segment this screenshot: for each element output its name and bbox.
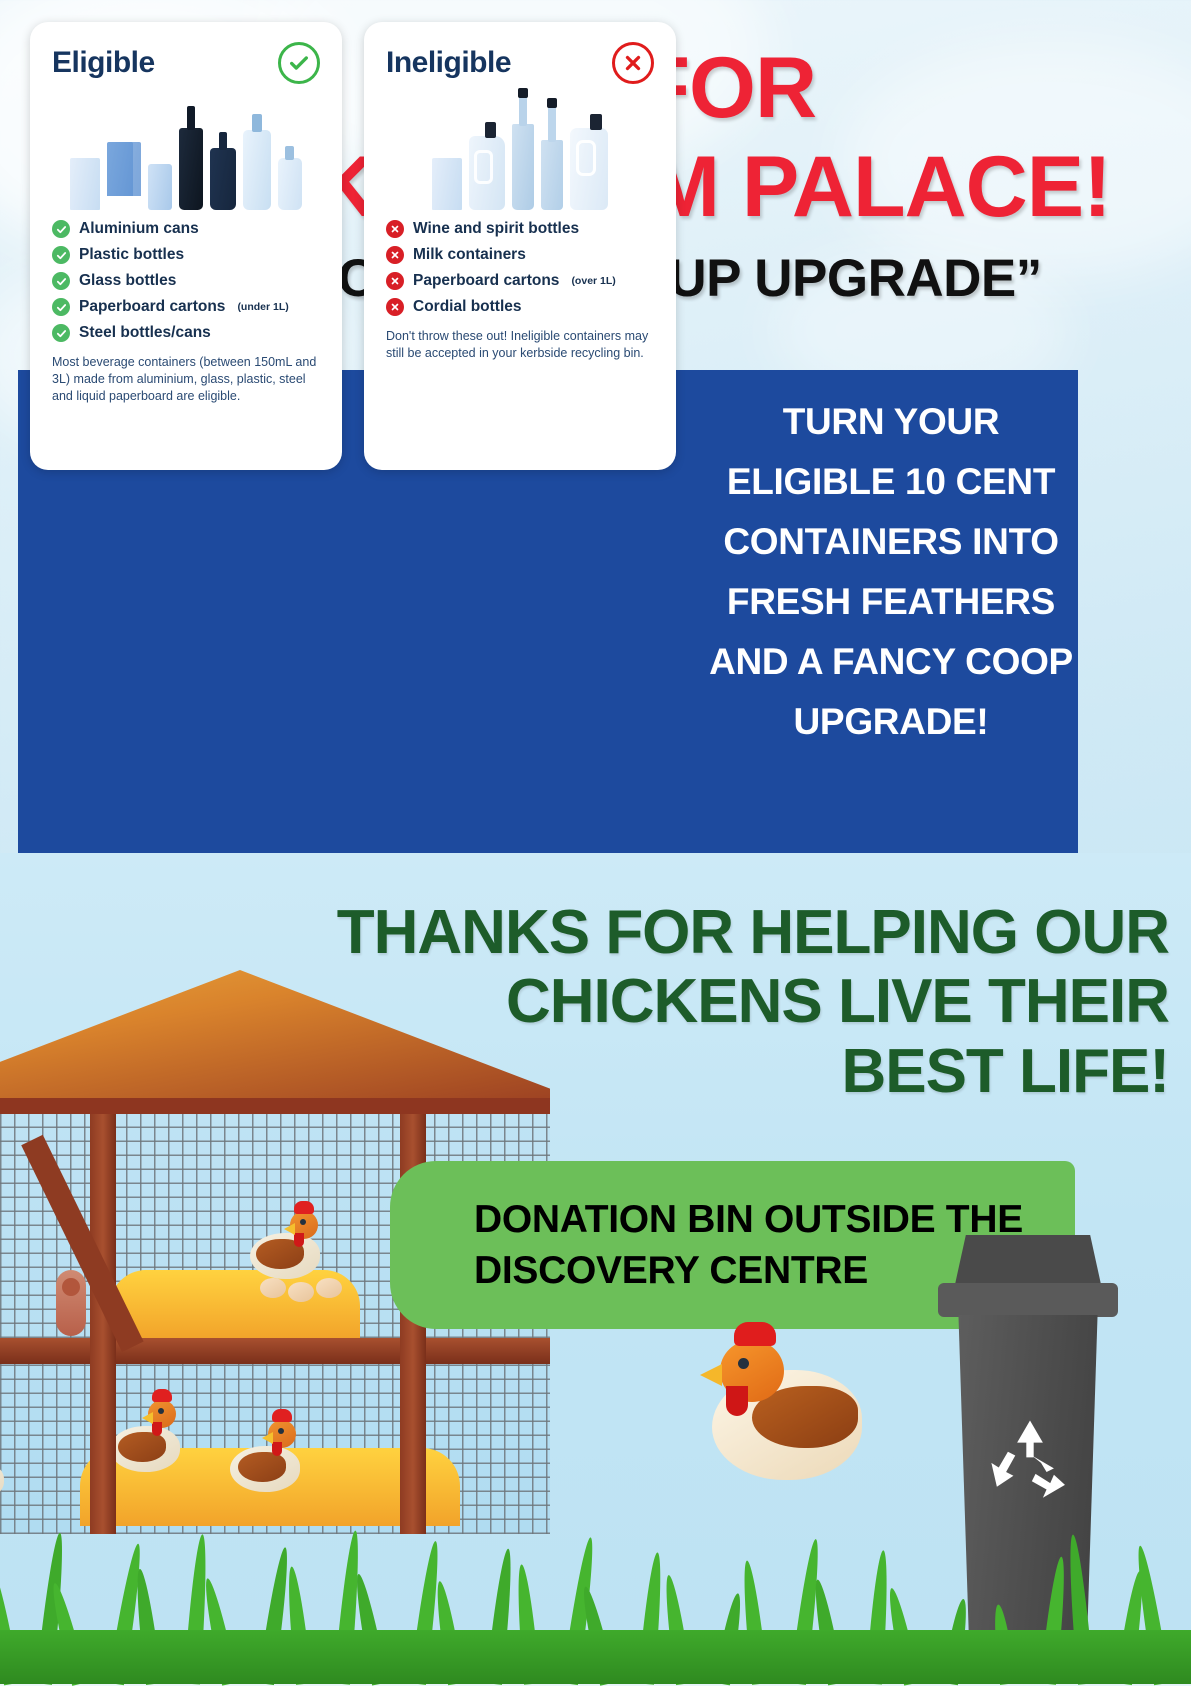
list-item-label: Wine and spirit bottles bbox=[413, 220, 579, 238]
glass-bottle-icon bbox=[210, 148, 236, 210]
check-icon bbox=[52, 246, 70, 264]
ineligible-card-title: Ineligible bbox=[386, 46, 511, 80]
call-to-action-message: TURN YOUR ELIGIBLE 10 CENT CONTAINERS IN… bbox=[705, 392, 1077, 752]
milk-container-icon bbox=[570, 128, 608, 210]
list-item-label: Aluminium cans bbox=[79, 220, 199, 238]
large-carton-icon bbox=[432, 158, 462, 210]
cross-circle-icon bbox=[612, 42, 654, 84]
list-item-label: Cordial bottles bbox=[413, 298, 522, 316]
wine-bottle-icon bbox=[512, 124, 534, 210]
grass-base bbox=[0, 1630, 1191, 1684]
check-icon bbox=[52, 324, 70, 342]
egg-icon bbox=[316, 1278, 342, 1298]
list-item: Paperboard cartons (under 1L) bbox=[52, 298, 320, 316]
eligible-card: Eligible Aluminium cans Plastic bottles bbox=[30, 22, 342, 470]
bin-lid bbox=[938, 1283, 1118, 1317]
recycle-arrows-icon bbox=[984, 1415, 1076, 1507]
grass-foreground bbox=[0, 1504, 1191, 1684]
egg-icon bbox=[288, 1282, 314, 1302]
list-item-note: (over 1L) bbox=[571, 275, 615, 287]
cross-icon bbox=[386, 220, 404, 238]
poster-root: CANS FOR CLUCKINGHAM PALACE! “BHCS CHICK… bbox=[0, 0, 1191, 1684]
coop-latch bbox=[56, 1270, 86, 1336]
coop-beam bbox=[0, 1338, 550, 1364]
list-item-label: Plastic bottles bbox=[79, 246, 184, 264]
eligible-card-footnote: Most beverage containers (between 150mL … bbox=[52, 354, 320, 405]
ineligible-card-footnote: Don't throw these out! Ineligible contai… bbox=[386, 328, 654, 362]
list-item-note: (under 1L) bbox=[237, 301, 288, 313]
list-item-label: Glass bottles bbox=[79, 272, 176, 290]
carton-icon bbox=[70, 158, 100, 210]
ineligible-card-header: Ineligible bbox=[386, 42, 654, 84]
list-item: Plastic bottles bbox=[52, 246, 320, 264]
list-item: Cordial bottles bbox=[386, 298, 654, 316]
thanks-headline: THANKS FOR HELPING OUR CHICKENS LIVE THE… bbox=[329, 898, 1169, 1106]
list-item: Steel bottles/cans bbox=[52, 324, 320, 342]
milk-jug-icon bbox=[469, 136, 505, 210]
ineligible-card: Ineligible Wine and spirit bottles Milk … bbox=[364, 22, 676, 470]
plastic-bottle-icon bbox=[243, 130, 271, 210]
eligible-containers-illustration bbox=[52, 98, 320, 210]
list-item-label: Milk containers bbox=[413, 246, 526, 264]
check-icon bbox=[52, 220, 70, 238]
bin-lid-top bbox=[954, 1235, 1102, 1289]
egg-icon bbox=[260, 1278, 286, 1298]
list-item: Aluminium cans bbox=[52, 220, 320, 238]
milk-carton-icon bbox=[107, 142, 141, 210]
list-item: Wine and spirit bottles bbox=[386, 220, 654, 238]
cross-icon bbox=[386, 246, 404, 264]
small-plastic-bottle-icon bbox=[278, 158, 302, 210]
glass-beer-bottle-icon bbox=[179, 128, 203, 210]
ineligible-containers-illustration bbox=[386, 98, 654, 210]
spirit-bottle-icon bbox=[541, 140, 563, 210]
cross-icon bbox=[386, 272, 404, 290]
list-item-label: Paperboard cartons bbox=[79, 298, 225, 316]
check-circle-icon bbox=[278, 42, 320, 84]
list-item: Paperboard cartons (over 1L) bbox=[386, 272, 654, 290]
list-item: Glass bottles bbox=[52, 272, 320, 290]
eligible-items-list: Aluminium cans Plastic bottles Glass bot… bbox=[52, 220, 320, 342]
eligible-card-title: Eligible bbox=[52, 46, 155, 80]
list-item-label: Paperboard cartons bbox=[413, 272, 559, 290]
cross-icon bbox=[386, 298, 404, 316]
list-item: Milk containers bbox=[386, 246, 654, 264]
check-icon bbox=[52, 272, 70, 290]
ineligible-items-list: Wine and spirit bottles Milk containers … bbox=[386, 220, 654, 316]
aluminium-can-icon bbox=[148, 164, 172, 210]
check-icon bbox=[52, 298, 70, 316]
list-item-label: Steel bottles/cans bbox=[79, 324, 211, 342]
eligible-card-header: Eligible bbox=[52, 42, 320, 84]
